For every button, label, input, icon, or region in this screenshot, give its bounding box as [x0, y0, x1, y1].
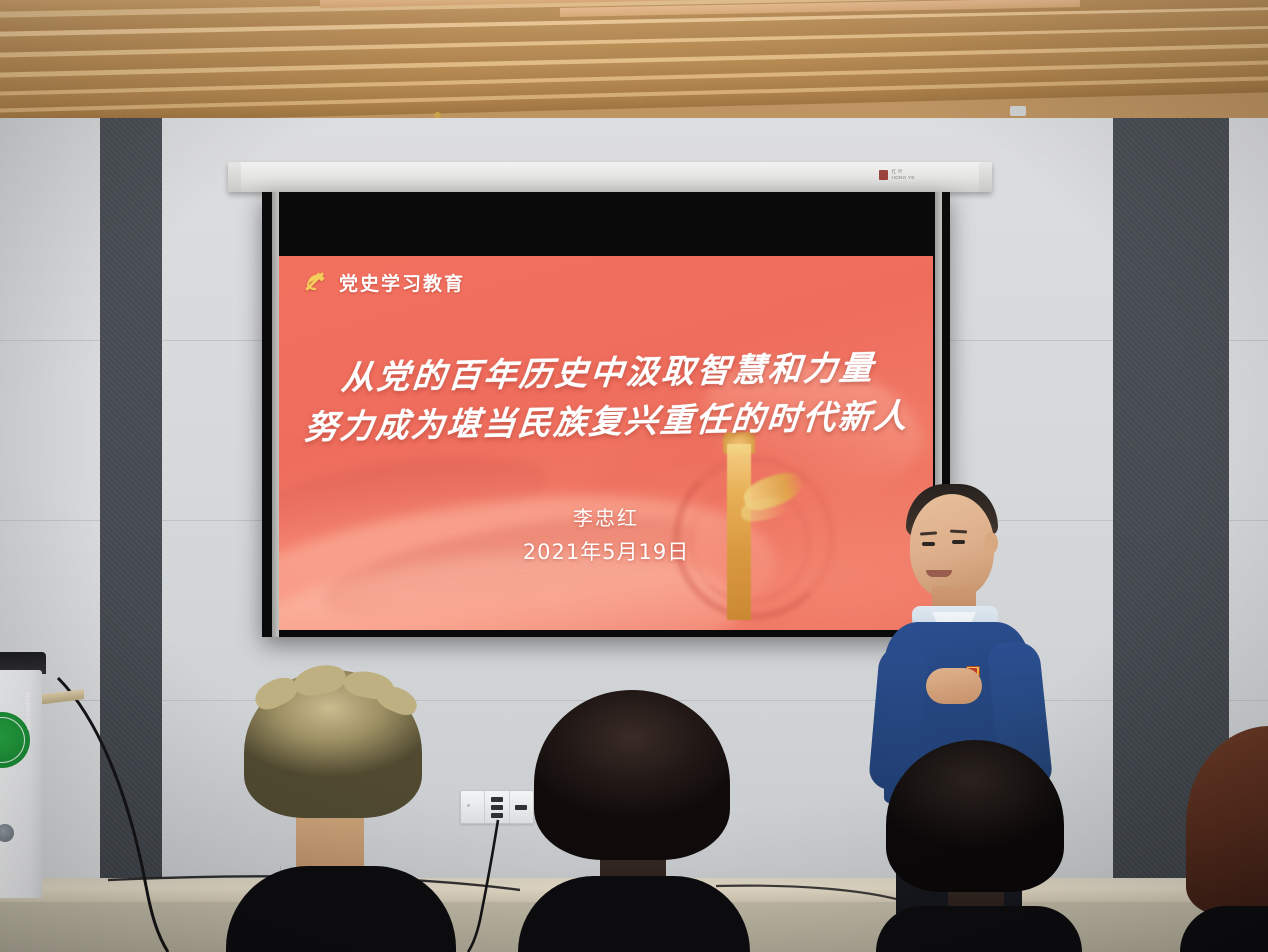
audience-member-2: [518, 690, 750, 952]
audience-member-1: [226, 670, 456, 952]
audience-3-shirt: [876, 906, 1082, 952]
screen-brand-text-cn: 红 叶: [891, 169, 902, 174]
slide-meta: 李忠红 2021年5月19日: [279, 502, 933, 566]
cpc-hammer-sickle-emblem: [301, 268, 329, 296]
lecture-hall-scene: TECHNOLOGY 红 叶 HONG YE: [0, 0, 1268, 952]
podium-logo-label: TECHNOLOGY: [24, 692, 31, 731]
audience-1-shirt: [226, 866, 456, 952]
presenter-mouth: [926, 570, 952, 577]
outlet-plate-blank: [461, 791, 485, 823]
auburn-long-hair: [1186, 726, 1268, 916]
dark-hair: [534, 690, 730, 860]
presenter-eye: [952, 540, 965, 544]
outlet-plate-sockets[interactable]: [485, 791, 509, 823]
presenter-head: [910, 494, 994, 598]
presentation-slide[interactable]: 党史学习教育 从党的百年历史中汲取智慧和力量 努力成为堪当民族复兴重任的时代新人…: [279, 256, 933, 630]
slide-date: 2021年5月19日: [279, 536, 933, 566]
presenter-ear: [984, 532, 998, 554]
audience-2-shirt: [518, 876, 750, 952]
screen-brand-mark: [879, 170, 888, 180]
wooden-slat-ceiling: [0, 0, 1268, 122]
ceiling-mount-bracket: [1010, 106, 1026, 116]
slide-header-label: 党史学习教育: [339, 269, 465, 296]
slide-title-line-1: 从党的百年历史中汲取智慧和力量: [279, 346, 933, 401]
slide-speaker-name: 李忠红: [279, 502, 933, 531]
projection-screen[interactable]: 党史学习教育 从党的百年历史中汲取智慧和力量 努力成为堪当民族复兴重任的时代新人…: [262, 192, 950, 637]
screen-brand-text-en: HONG YE: [891, 175, 914, 180]
podium-body: [0, 670, 42, 898]
screen-brand-logo: 红 叶 HONG YE: [879, 169, 914, 180]
presenter-hands: [926, 668, 982, 704]
slide-header: 党史学习教育: [301, 268, 465, 296]
blonde-spiky-hair: [244, 670, 422, 818]
acoustic-panel-left: [100, 118, 162, 908]
projection-screen-housing[interactable]: 红 叶 HONG YE: [228, 162, 992, 192]
dark-bowl-cut-hair: [886, 740, 1064, 892]
slide-title: 从党的百年历史中汲取智慧和力量 努力成为堪当民族复兴重任的时代新人: [279, 346, 933, 450]
screen-edge-left: [272, 192, 279, 637]
audience-member-4: [1186, 726, 1268, 952]
audience-member-3: [876, 740, 1082, 952]
presenter-eye: [922, 542, 935, 546]
audience-4-shirt: [1180, 906, 1268, 952]
podium[interactable]: TECHNOLOGY: [0, 652, 46, 900]
